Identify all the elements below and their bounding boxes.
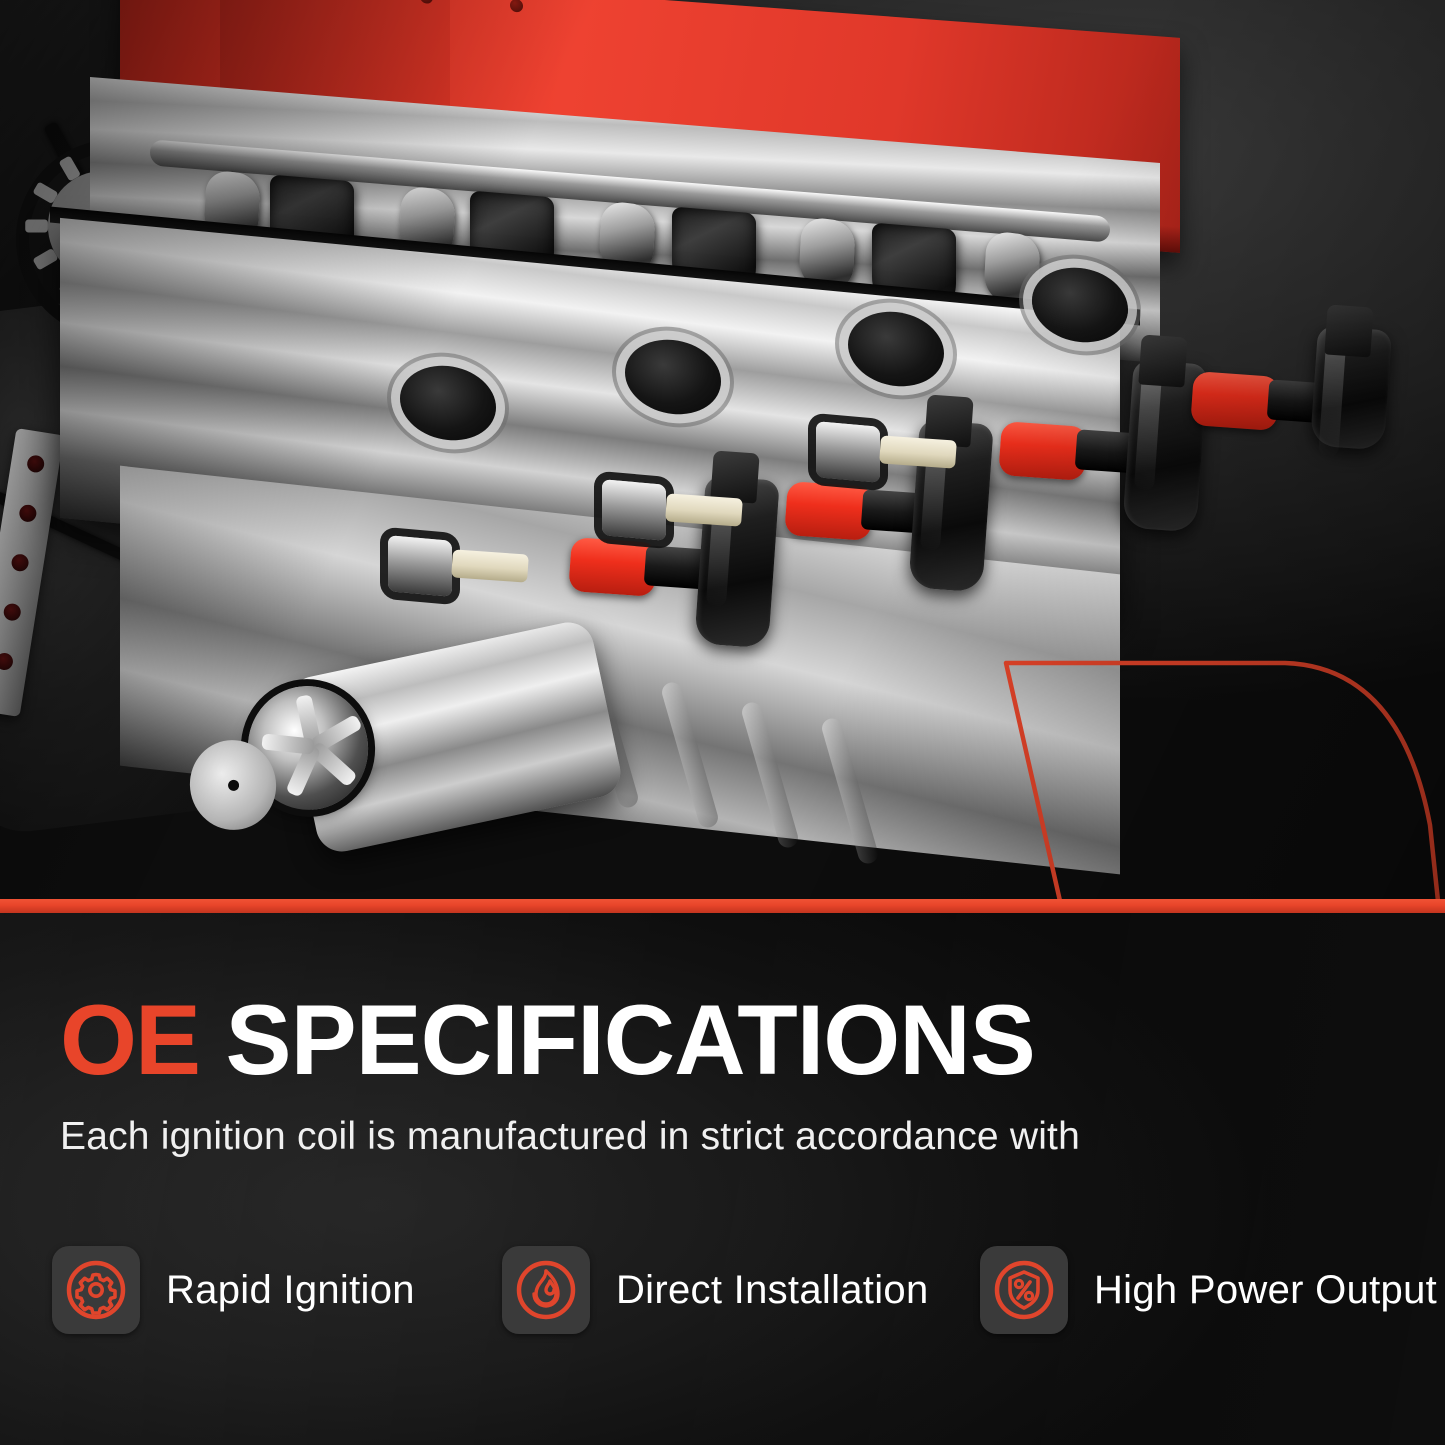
flame-icon (514, 1258, 578, 1322)
section-divider (0, 899, 1445, 913)
product-marketing-image: OE SPECIFICATIONS Each ignition coil is … (0, 0, 1445, 1445)
feature-item-high-power-output: High Power Output (980, 1240, 1400, 1340)
spark-plug-boot (998, 421, 1088, 481)
subtitle: Each ignition coil is manufactured in st… (60, 1116, 1080, 1159)
spark-plug-insulator (451, 549, 529, 582)
feature-icon-tile (52, 1246, 140, 1334)
spark-plug-insulator (665, 493, 743, 526)
bracket-hole (26, 454, 45, 473)
feature-label: Rapid Ignition (166, 1268, 415, 1313)
bracket-hole (0, 652, 14, 671)
spark-plug-base (816, 421, 880, 483)
ignition-coil-cap (710, 450, 759, 503)
feature-label: High Power Output (1094, 1268, 1437, 1313)
hero-engine-photo (0, 0, 1445, 900)
feature-item-rapid-ignition: Rapid Ignition (52, 1240, 502, 1340)
headline-rest: SPECIFICATIONS (199, 984, 1035, 1095)
shield-percent-icon (992, 1258, 1056, 1322)
feature-item-direct-installation: Direct Installation (502, 1240, 980, 1340)
feature-icon-tile (502, 1246, 590, 1334)
gear-icon (64, 1258, 128, 1322)
feature-icon-tile (980, 1246, 1068, 1334)
spark-plug-boot (784, 481, 874, 541)
ignition-coil-cap (1138, 334, 1187, 387)
headline-accent: OE (60, 984, 199, 1095)
page-title: OE SPECIFICATIONS (60, 990, 1035, 1089)
bracket-hole (18, 504, 37, 523)
bracket-hole (3, 602, 22, 621)
spark-plug-boot (1190, 371, 1280, 431)
spark-plug-base (388, 535, 452, 597)
feature-list: Rapid Ignition Direct Installation (52, 1235, 1407, 1345)
decorative-car-outline (960, 655, 1445, 900)
feature-label: Direct Installation (616, 1268, 929, 1313)
spark-plug-insulator (879, 435, 957, 468)
ignition-coil-cap (1324, 304, 1373, 357)
valve-cover-bolt (510, 0, 523, 13)
spark-plug-base (602, 479, 666, 541)
bracket-hole (10, 553, 29, 572)
